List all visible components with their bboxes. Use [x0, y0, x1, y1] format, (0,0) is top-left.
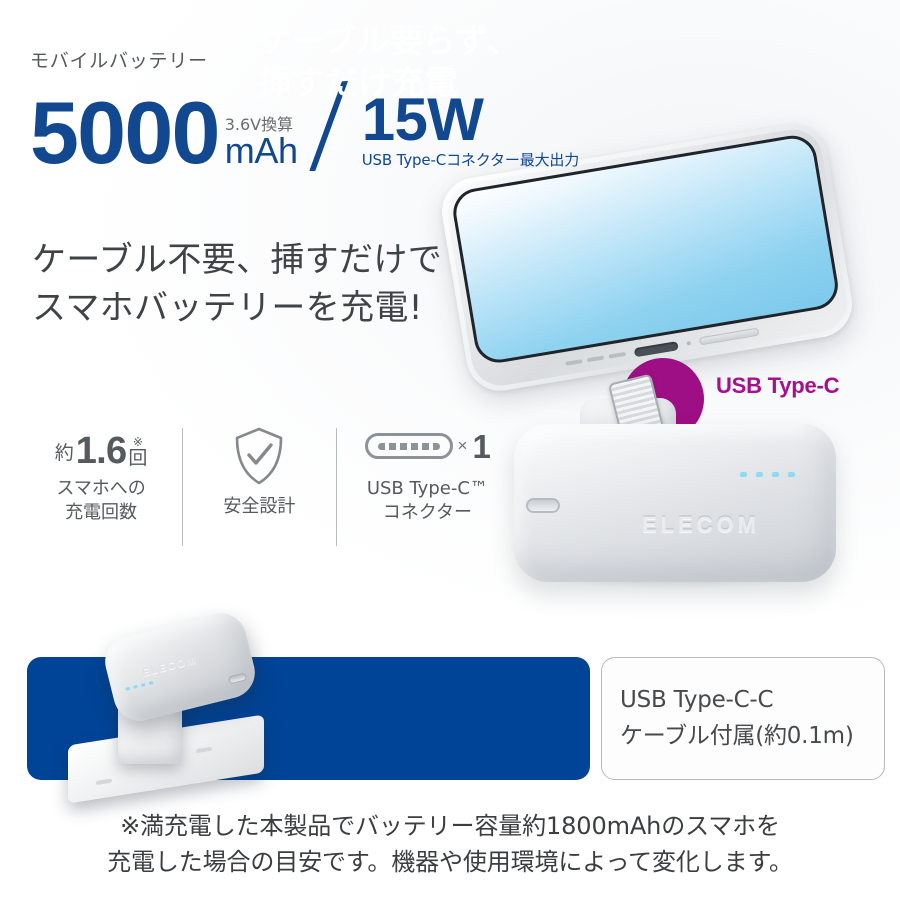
footnote: ※満充電した本製品でバッテリー容量約1800mAhのスマホを 充電した場合の目安… — [0, 808, 900, 880]
power-bank-input-port-icon — [526, 498, 560, 513]
feature-charge-count-caption: スマホへの 充電回数 — [56, 477, 145, 525]
plugged-in-scene-image: ELECOM — [60, 620, 290, 795]
feature-safety: 安全設計 — [197, 424, 322, 519]
feature-row: 約 1.6 ※ 回 スマホへの 充電回数 安全設計 — [34, 424, 504, 552]
outlet-slot-1 — [96, 779, 112, 786]
feature-charge-count-caption-line-2: 充電回数 — [56, 501, 145, 525]
scene-brand-logo: ELECOM — [141, 654, 199, 679]
feature-divider-1 — [182, 428, 183, 546]
headline-line-1: ケーブル不要、挿すだけで — [32, 236, 442, 284]
headline: ケーブル不要、挿すだけで スマホバッテリーを充電! — [32, 236, 442, 333]
capacity-unit-group: 3.6V換算 mAh — [225, 116, 298, 171]
feature-divider-2 — [336, 428, 337, 546]
included-cable-line-1: USB Type-C-C — [620, 683, 884, 719]
promo-banner-line-1: ケーブル要らず、 — [258, 20, 520, 62]
feature-charge-count: 約 1.6 ※ 回 スマホへの 充電回数 — [34, 424, 168, 525]
power-bank-image: ELECOM — [508, 396, 840, 592]
sim-tray-icon — [699, 328, 759, 346]
usb-c-port-count: 1 — [472, 430, 490, 463]
included-cable-card: USB Type-C-C ケーブル付属(約0.1m) — [601, 657, 885, 780]
feature-usb-c-connector: × 1 USB Type-C™ コネクター — [351, 424, 504, 525]
charge-count-unit-group: ※ 回 — [128, 438, 147, 468]
usb-c-port-inner — [378, 443, 440, 450]
scene-battery-leds-icon — [125, 681, 153, 691]
included-cable-line-2: ケーブル付属(約0.1m) — [620, 719, 884, 755]
feature-usb-c-caption-line-2: コネクター — [367, 501, 488, 525]
microphone-dot-icon — [686, 341, 691, 346]
headline-line-2: スマホバッテリーを充電! — [32, 284, 442, 332]
capacity-value: 5000 — [30, 95, 219, 171]
power-note: USB Type-Cコネクター最大出力 — [362, 151, 579, 169]
charge-count-value-row: 約 1.6 ※ 回 — [55, 424, 148, 468]
brand-logo: ELECOM — [642, 512, 760, 538]
capacity-unit: mAh — [225, 134, 298, 168]
usb-c-callout-label: USB Type-C — [716, 373, 839, 399]
feature-usb-c-caption-line-1: USB Type-C™ — [367, 477, 488, 501]
phone-usb-c-port-icon — [634, 341, 679, 357]
product-feature-panel: モバイルバッテリー 5000 3.6V換算 mAh 15W USB Type-C… — [0, 0, 900, 900]
usb-c-port-icon — [365, 433, 453, 459]
outlet-slot-2 — [196, 747, 212, 754]
power-bank-body: ELECOM — [514, 424, 836, 582]
speaker-grille-icon — [565, 352, 626, 366]
power-group: 15W USB Type-Cコネクター最大出力 — [362, 93, 579, 171]
promo-banner-text: ケーブル要らず、 挿すだけ充電 — [258, 20, 520, 104]
battery-level-leds-icon — [740, 472, 795, 477]
footnote-line-1: ※満充電した本製品でバッテリー容量約1800mAhのスマホを — [0, 808, 900, 844]
footnote-line-2: 充電した場合の目安です。機器や使用環境によって変化します。 — [0, 844, 900, 880]
scene-power-bank: ELECOM — [100, 608, 261, 726]
feature-charge-count-caption-line-1: スマホへの — [56, 477, 145, 501]
shield-check-icon — [232, 426, 286, 486]
usb-c-count-row: × 1 — [365, 424, 491, 468]
multiplier-symbol: × — [458, 436, 468, 456]
capacity-group: 5000 3.6V換算 mAh — [30, 95, 298, 171]
feature-safety-caption: 安全設計 — [223, 495, 295, 519]
scene-usb-c-port-icon — [228, 672, 247, 684]
charge-count-approx: 約 — [55, 438, 74, 468]
charge-count-value: 1.6 — [76, 434, 127, 468]
feature-safety-caption-line-1: 安全設計 — [223, 495, 295, 519]
feature-usb-c-caption: USB Type-C™ コネクター — [367, 477, 488, 525]
promo-banner-line-2: 挿すだけ充電 — [258, 62, 520, 104]
charge-count-unit: 回 — [128, 449, 147, 467]
